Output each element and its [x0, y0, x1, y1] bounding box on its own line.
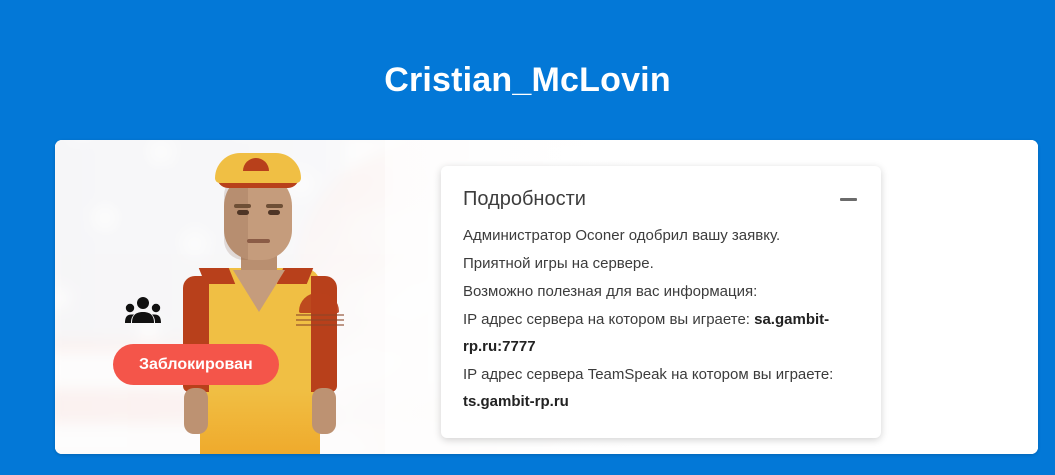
details-panel-title: Подробности: [463, 186, 586, 212]
details-line: IP адрес сервера на котором вы играете: …: [463, 306, 859, 360]
details-line: Приятной игры на сервере.: [463, 250, 859, 277]
character-vneck: [233, 270, 285, 312]
page-title: Cristian_McLovin: [0, 58, 1055, 102]
character-avatar: [155, 150, 365, 454]
page-root: Cristian_McLovin ★ ★ ★ ★ ★ ★ ★ ★ ★: [0, 0, 1055, 475]
character-brow-left: [234, 204, 251, 208]
details-panel-header: Подробности: [463, 184, 859, 214]
details-line: Администратор Oconer одобрил вашу заявку…: [463, 222, 859, 249]
users-group-icon[interactable]: [125, 296, 161, 324]
character-eye-left: [237, 210, 249, 215]
character-mouth: [247, 239, 270, 243]
character-hand-left: [184, 388, 208, 434]
character-brow-right: [266, 204, 283, 208]
details-line-value: sa.gambit-rp.ru:7777: [463, 311, 829, 355]
details-panel: Подробности Администратор Oconer одобрил…: [441, 166, 881, 438]
character-collar-left: [199, 268, 235, 284]
details-panel-body: Администратор Oconer одобрил вашу заявку…: [463, 222, 859, 415]
collapse-button[interactable]: [837, 188, 859, 210]
details-line-value: ts.gambit-rp.ru: [463, 393, 569, 410]
shirt-logo-text: [296, 314, 344, 328]
details-line: Возможно полезная для вас информация:: [463, 278, 859, 305]
minus-icon: [840, 198, 857, 201]
status-badge: Заблокирован: [113, 344, 279, 385]
character-eye-right: [268, 210, 280, 215]
character-hand-right: [312, 388, 336, 434]
details-line: IP адрес сервера TeamSpeak на котором вы…: [463, 361, 859, 415]
